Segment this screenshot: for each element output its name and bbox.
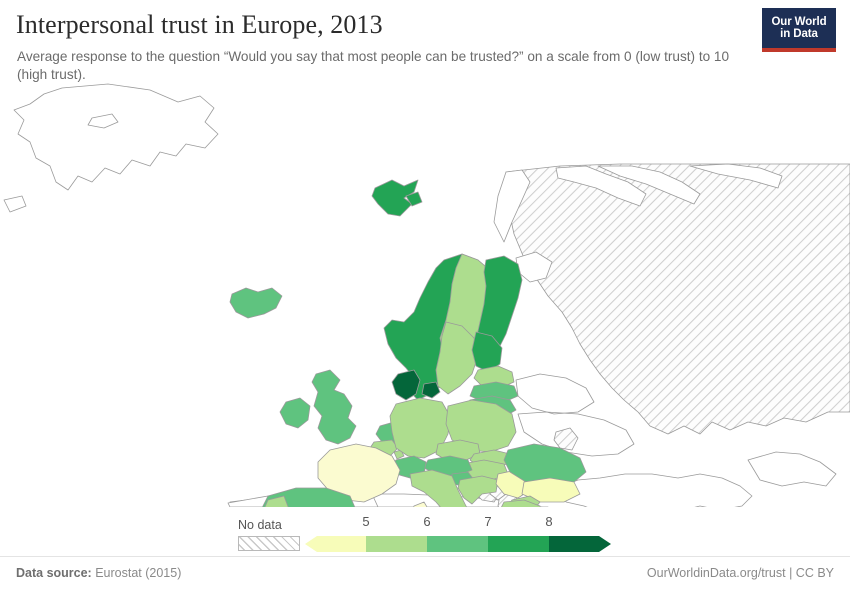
legend-bin-4[interactable] — [549, 536, 611, 552]
legend-tick-8: 8 — [545, 514, 552, 529]
legend-no-data-label: No data — [238, 518, 282, 532]
map-region-arctic-sliver — [4, 196, 26, 212]
legend-tick-7: 7 — [484, 514, 491, 529]
logo-line-2: in Data — [780, 28, 818, 41]
map-border-belarus — [516, 374, 594, 414]
map-region-turkey[interactable] — [560, 474, 752, 507]
map-region-ireland[interactable] — [280, 398, 310, 428]
chart-subtitle: Average response to the question “Would … — [17, 48, 732, 84]
legend-no-data-swatch[interactable] — [238, 536, 300, 551]
legend-tick-6: 6 — [423, 514, 430, 529]
page-title: Interpersonal trust in Europe, 2013 — [16, 10, 383, 40]
map-region-caucasus[interactable] — [748, 452, 836, 486]
owid-map-chart: Interpersonal trust in Europe, 2013 Aver… — [0, 0, 850, 600]
map-legend: No data 5 6 7 8 — [0, 506, 850, 554]
legend-bin-1[interactable] — [366, 536, 427, 552]
legend-tick-5: 5 — [362, 514, 369, 529]
legend-bin-0[interactable] — [305, 536, 366, 552]
data-source-label: Data source: — [16, 566, 92, 580]
legend-bin-3[interactable] — [488, 536, 549, 552]
our-world-in-data-logo[interactable]: Our World in Data — [762, 8, 836, 52]
map-region-moldova[interactable] — [554, 428, 578, 450]
map-region-iceland[interactable] — [230, 288, 282, 318]
choropleth-map[interactable] — [0, 82, 850, 507]
legend-bin-2[interactable] — [427, 536, 488, 552]
license-link[interactable]: OurWorldinData.org/trust | CC BY — [647, 566, 834, 580]
footer-divider — [0, 556, 850, 557]
map-region-russia[interactable] — [506, 164, 850, 434]
data-source: Data source: Eurostat (2015) — [16, 566, 181, 580]
map-region-greenland[interactable] — [14, 84, 218, 190]
logo-line-1: Our World — [771, 16, 826, 29]
data-source-value: Eurostat (2015) — [95, 566, 181, 580]
legend-color-scale[interactable] — [305, 536, 611, 552]
map-region-united-kingdom[interactable] — [312, 370, 356, 444]
